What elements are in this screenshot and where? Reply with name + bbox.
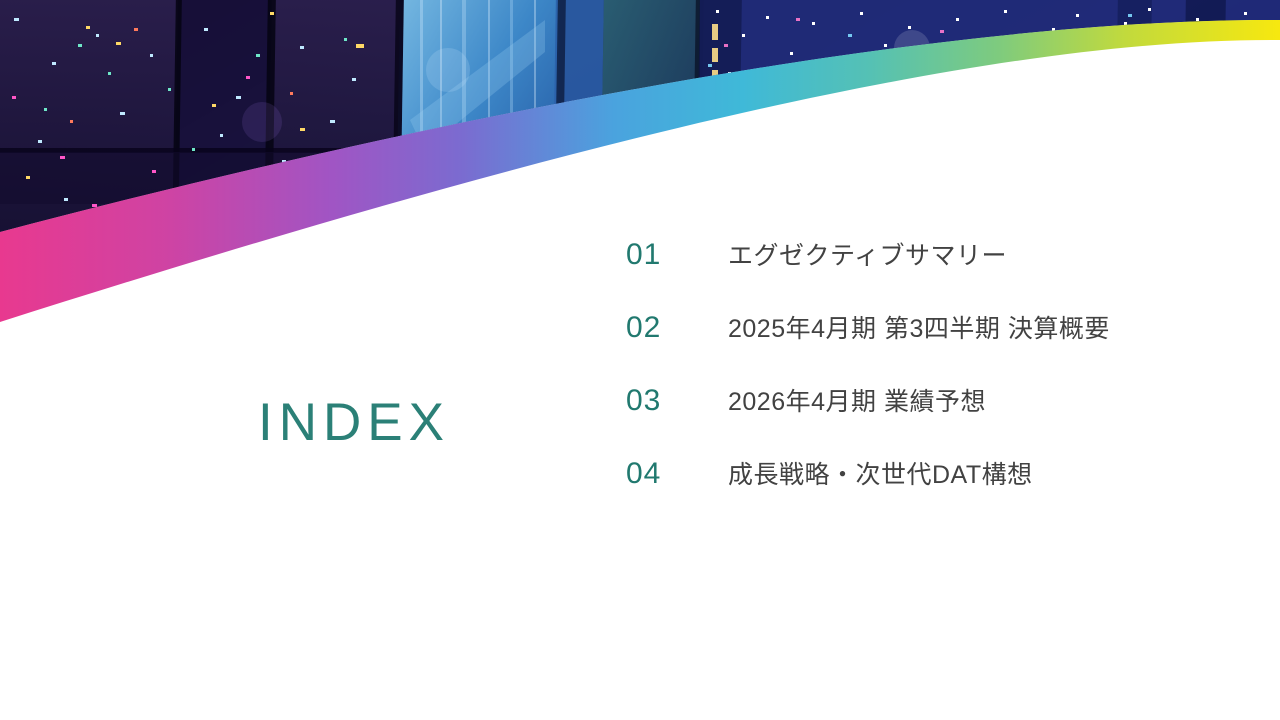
index-item-number: 03 (626, 386, 728, 416)
list-item[interactable]: 03 2026年4月期 業績予想 (626, 386, 1226, 459)
index-item-number: 04 (626, 459, 728, 489)
index-list: 01 エグゼクティブサマリー 02 2025年4月期 第3四半期 決算概要 03… (626, 240, 1226, 532)
list-item[interactable]: 02 2025年4月期 第3四半期 決算概要 (626, 313, 1226, 386)
index-item-number: 02 (626, 313, 728, 343)
slide-index: INDEX 01 エグゼクティブサマリー 02 2025年4月期 第3四半期 決… (0, 0, 1280, 720)
index-item-number: 01 (626, 240, 728, 270)
index-item-label: 成長戦略・次世代DAT構想 (728, 463, 1033, 488)
list-item[interactable]: 04 成長戦略・次世代DAT構想 (626, 459, 1226, 532)
list-item[interactable]: 01 エグゼクティブサマリー (626, 240, 1226, 313)
index-item-label: エグゼクティブサマリー (728, 244, 1007, 269)
index-item-label: 2026年4月期 業績予想 (728, 390, 986, 415)
page-title: INDEX (258, 396, 450, 449)
index-item-label: 2025年4月期 第3四半期 決算概要 (728, 317, 1110, 342)
